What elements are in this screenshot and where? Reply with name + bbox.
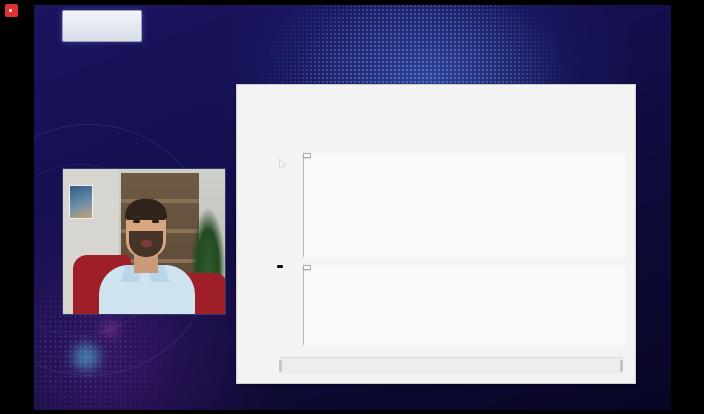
speaker-eye-left bbox=[133, 220, 140, 223]
presentation-slide[interactable] bbox=[236, 84, 636, 384]
wall-picture bbox=[69, 185, 93, 219]
chart-bottom-plot[interactable] bbox=[303, 265, 625, 345]
letterbox-bar-right bbox=[671, 0, 704, 414]
chart-bottom-year-marker bbox=[303, 265, 304, 345]
chart-trade-balance-usd[interactable] bbox=[277, 153, 625, 257]
letterbox-bar-top bbox=[0, 0, 704, 5]
letterbox-bar-left bbox=[0, 0, 34, 414]
live-dot-icon bbox=[9, 9, 12, 12]
webcam-room-background bbox=[63, 169, 225, 314]
speaker-eye-right bbox=[152, 220, 159, 223]
chart-top-plot[interactable] bbox=[303, 153, 625, 257]
scrubber-handle-right[interactable] bbox=[620, 360, 623, 372]
scrubber-handle-left[interactable] bbox=[279, 360, 282, 372]
glow-dot bbox=[103, 322, 117, 336]
chart-range-scrubber[interactable] bbox=[279, 357, 623, 374]
chart-bottom-tooltip bbox=[303, 265, 311, 270]
chart-trade-balance-gdp[interactable] bbox=[277, 265, 625, 345]
screen-share-stage bbox=[0, 0, 704, 414]
speaker-brow-right bbox=[151, 216, 160, 218]
speaker-brow-left bbox=[132, 216, 141, 218]
letterbox-bar-bottom bbox=[0, 410, 704, 414]
live-badge bbox=[5, 4, 18, 17]
glow-dot bbox=[73, 344, 99, 370]
tedar-logo bbox=[62, 10, 142, 42]
selected-year-badge[interactable] bbox=[277, 265, 283, 268]
speaker-mouth bbox=[141, 240, 152, 247]
scrubber-sparkline bbox=[281, 361, 621, 372]
chart-area[interactable] bbox=[277, 153, 625, 368]
chart-top-tooltip bbox=[303, 153, 311, 158]
chart-x-axis bbox=[303, 265, 625, 275]
mouse-cursor-icon bbox=[279, 159, 286, 169]
webcam-tile[interactable] bbox=[62, 168, 226, 315]
chart-top-year-marker bbox=[303, 153, 304, 257]
